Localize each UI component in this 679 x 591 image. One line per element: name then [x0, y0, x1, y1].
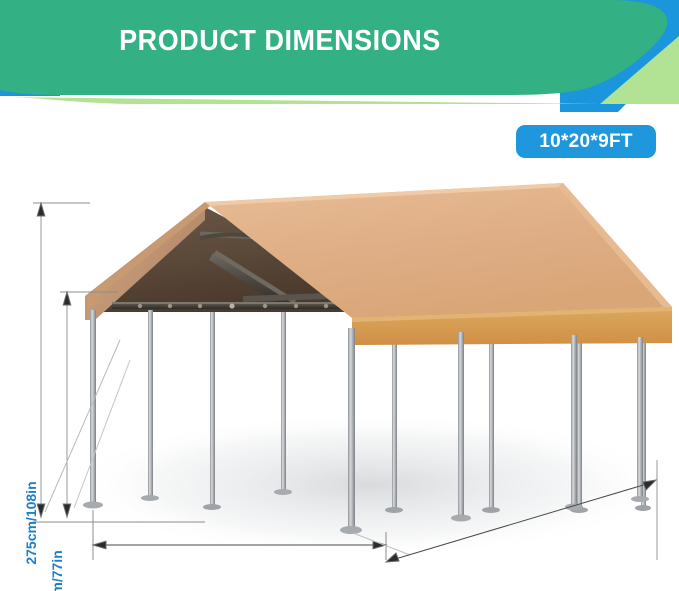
size-badge: 10*20*9FT: [516, 125, 656, 158]
product-illustration: 275cm/108in 195cm/77in 300cm/118in 600cm…: [0, 160, 679, 591]
arrow-width-left: [93, 541, 106, 549]
dimension-label-height-eave: 195cm/77in: [49, 533, 65, 591]
page-title: PRODUCT DIMENSIONS: [20, 23, 541, 59]
arrow-height-total-top: [37, 203, 45, 216]
dimension-label-height-total: 275cm/108in: [23, 468, 39, 578]
arrow-height-eave-top: [63, 292, 71, 305]
product-dimensions-page: PRODUCT DIMENSIONS 10*20*9FT: [0, 0, 679, 591]
arrow-height-eave-bottom: [63, 504, 71, 517]
header-banner: PRODUCT DIMENSIONS: [0, 0, 679, 112]
gable-purlin: [112, 302, 352, 309]
